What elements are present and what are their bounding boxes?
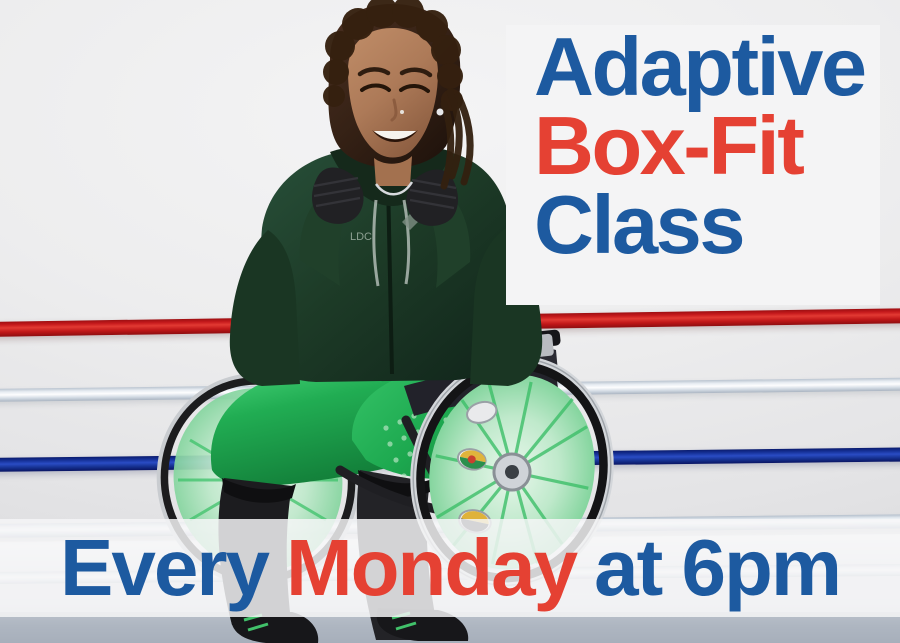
svg-text:LDC: LDC: [350, 231, 372, 243]
title-line-adaptive: Adaptive: [534, 28, 894, 107]
poster-canvas: LDC: [0, 0, 900, 643]
banner-word-monday: Monday: [286, 528, 576, 608]
schedule-banner-text: Every Monday at 6pm: [0, 519, 900, 617]
title-line-class: Class: [534, 186, 894, 265]
banner-word-every: Every: [60, 528, 268, 608]
banner-word-at-6pm: at 6pm: [594, 528, 840, 608]
title-line-box-fit: Box-Fit: [534, 107, 894, 186]
title-text-block: Adaptive Box-Fit Class: [534, 28, 894, 265]
